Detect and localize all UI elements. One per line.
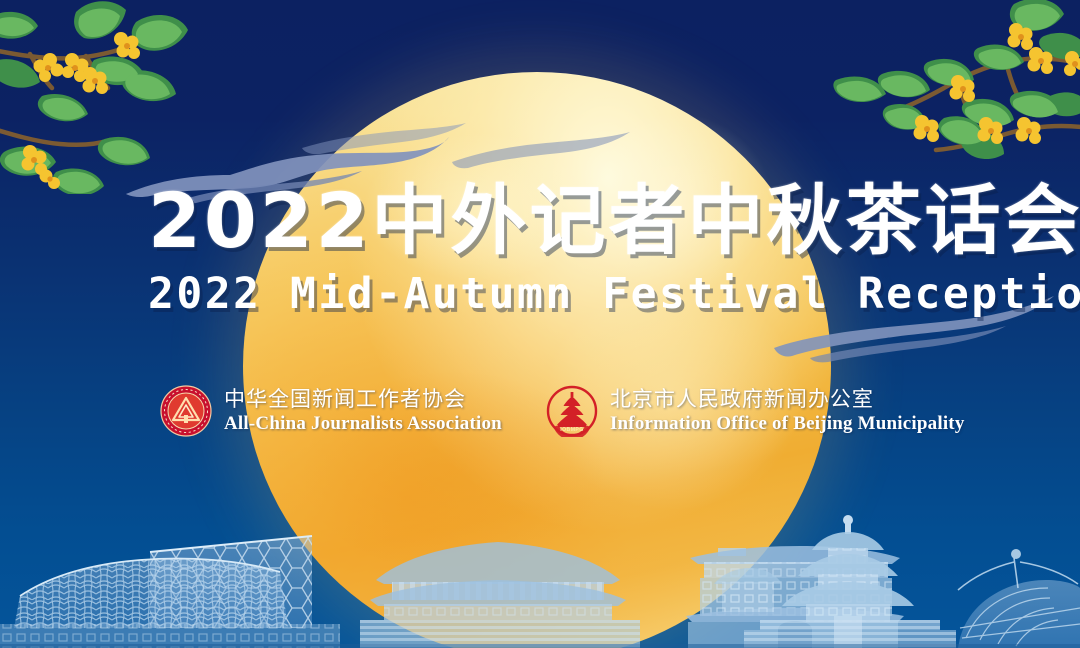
forbidden-city-hall-landmark	[360, 542, 640, 648]
osmanthus-branch-top-right	[828, 0, 1080, 181]
mid-autumn-reception-poster: 2022中外记者中秋茶话会 2022 Mid-Autumn Festival R…	[0, 0, 1080, 648]
osmanthus-flower-cluster	[22, 32, 141, 189]
svg-text:IOBMPG: IOBMPG	[560, 427, 583, 433]
organization-all-china-journalists-association: 中华全国新闻工作者协会 All-China Journalists Associ…	[160, 385, 502, 437]
daxing-airport-landmark	[958, 549, 1080, 648]
organization-information-office-beijing: IOBMPG 北京市人民政府新闻办公室 Information Office o…	[546, 385, 965, 437]
organization-name-cn: 北京市人民政府新闻办公室	[610, 387, 965, 412]
beijing-information-office-emblem-icon: IOBMPG	[546, 385, 598, 437]
all-china-journalists-association-emblem-icon	[160, 385, 212, 437]
beijing-landmarks-silhouette	[0, 488, 1080, 648]
organization-name-en: All-China Journalists Association	[224, 412, 502, 435]
birds-nest-landmark	[14, 559, 288, 629]
title-block: 2022中外记者中秋茶话会 2022 Mid-Autumn Festival R…	[148, 178, 968, 320]
page-title-english: 2022 Mid-Autumn Festival Reception	[148, 268, 968, 320]
osmanthus-flower-cluster	[914, 23, 1080, 144]
organization-name-en: Information Office of Beijing Municipali…	[610, 412, 965, 435]
page-title-chinese: 2022中外记者中秋茶话会	[148, 178, 968, 264]
organization-name-cn: 中华全国新闻工作者协会	[224, 387, 502, 412]
organizations-row: 中华全国新闻工作者协会 All-China Journalists Associ…	[160, 385, 965, 437]
osmanthus-branch-top-left	[0, 0, 280, 199]
